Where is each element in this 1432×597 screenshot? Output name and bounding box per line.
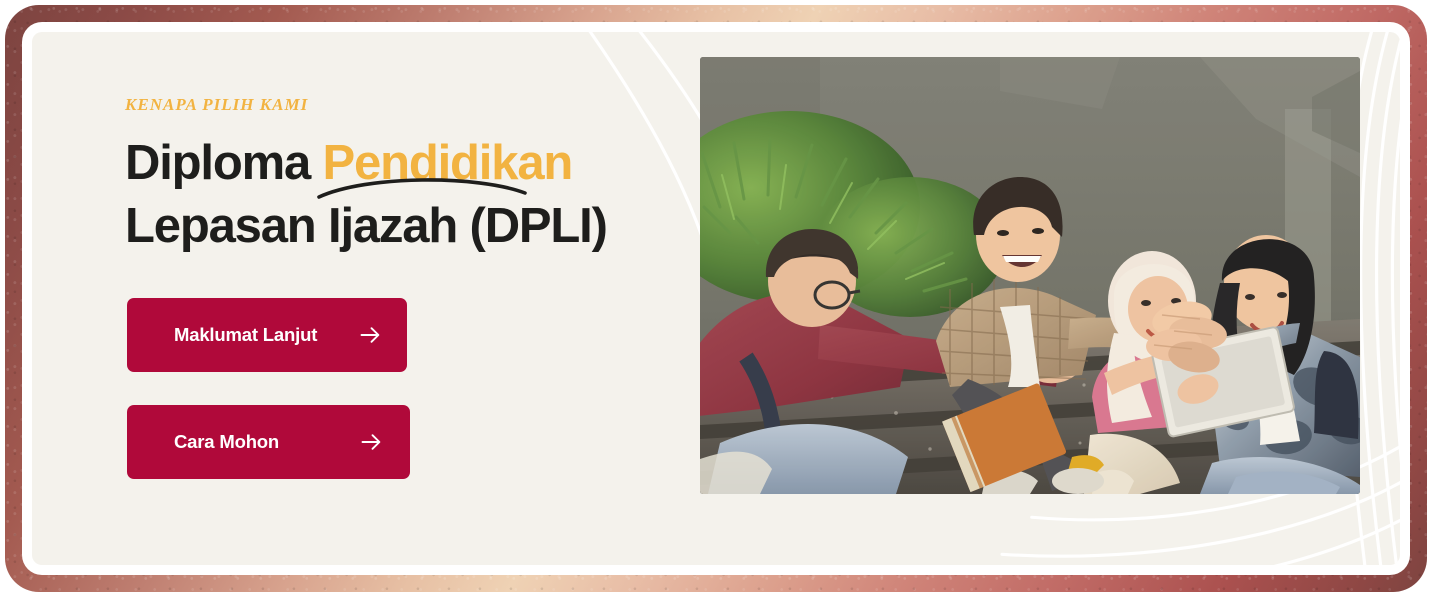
hero-card: KENAPA PILIH KAMI Diploma Pendidikan Lep…: [32, 32, 1400, 565]
frame-inner-white-gap: KENAPA PILIH KAMI Diploma Pendidikan Lep…: [22, 22, 1410, 575]
eyebrow-label: KENAPA PILIH KAMI: [125, 95, 645, 115]
page-title-line-2: Lepasan Ijazah (DPLI): [125, 195, 645, 258]
hero-text-column: KENAPA PILIH KAMI Diploma Pendidikan Lep…: [125, 95, 645, 258]
cara-mohon-label: Cara Mohon: [174, 431, 279, 453]
headline-block: Diploma Pendidikan Lepasan Ijazah (DPLI): [125, 132, 645, 258]
hero-photo: [700, 57, 1360, 494]
underline-swoosh-icon: [317, 174, 527, 200]
arrow-right-icon: [358, 429, 384, 455]
cta-button-group: Maklumat Lanjut Cara Mohon: [127, 298, 410, 479]
hero-banner-page: KENAPA PILIH KAMI Diploma Pendidikan Lep…: [0, 0, 1432, 597]
decorative-outer-frame: KENAPA PILIH KAMI Diploma Pendidikan Lep…: [5, 5, 1427, 592]
hero-content: KENAPA PILIH KAMI Diploma Pendidikan Lep…: [32, 32, 1400, 565]
maklumat-lanjut-label: Maklumat Lanjut: [174, 324, 317, 346]
maklumat-lanjut-button[interactable]: Maklumat Lanjut: [127, 298, 407, 372]
headline-plain-text: Diploma: [125, 136, 323, 190]
arrow-right-icon: [357, 322, 383, 348]
cara-mohon-button[interactable]: Cara Mohon: [127, 405, 410, 479]
